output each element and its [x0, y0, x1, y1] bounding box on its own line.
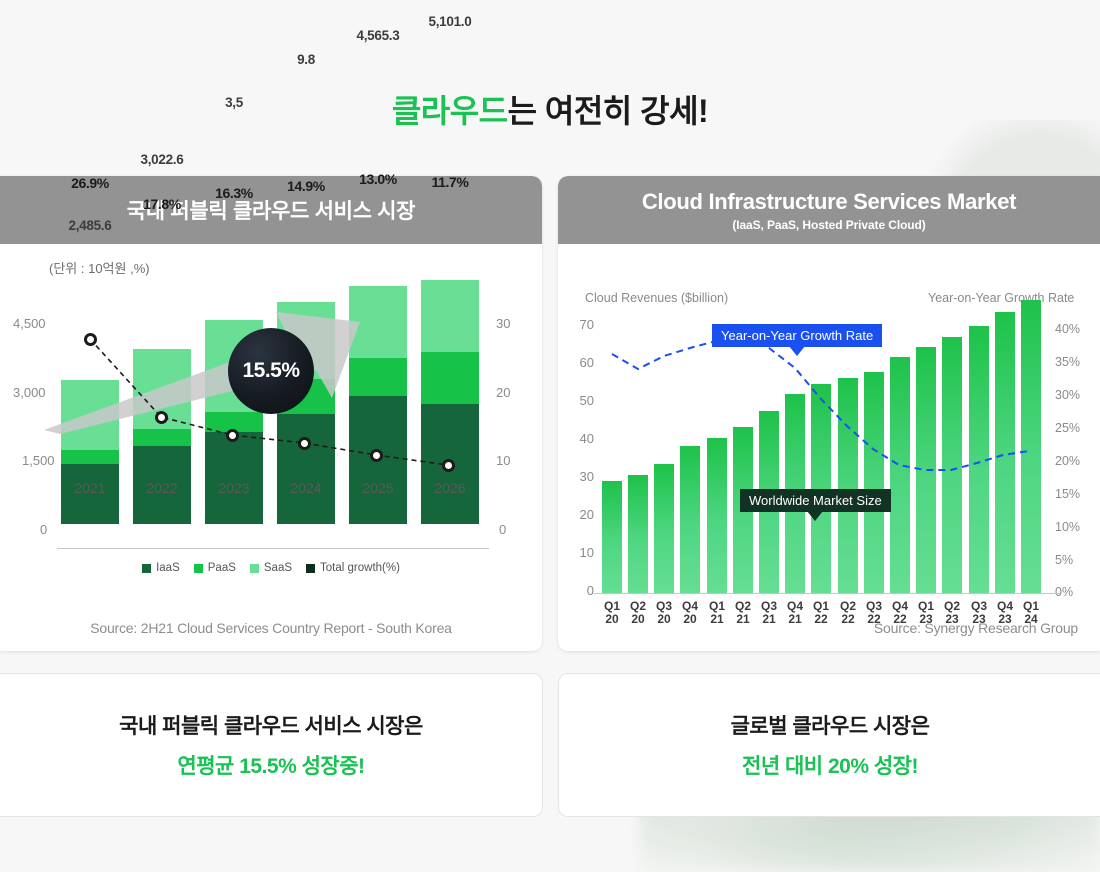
global-market-card-title: Cloud Infrastructure Services Market: [642, 189, 1016, 215]
bar-total-label: 3,5: [174, 95, 294, 110]
global-market-chart: Cloud Revenues ($billion) Year-on-Year G…: [558, 244, 1100, 614]
right-y2tick-5: 5%: [1055, 553, 1095, 567]
korea-market-chart: 4,500 3,000 1,500 0 30 20 10 0 2,485.6 2…: [0, 244, 542, 584]
global-market-card-header: Cloud Infrastructure Services Market (Ia…: [558, 176, 1100, 244]
tooltip-year-on-year-growth-rate: Year-on-Year Growth Rate: [712, 324, 882, 347]
right-y2tick-0: 0%: [1055, 585, 1095, 599]
left-chart-source: Source: 2H21 Cloud Services Country Repo…: [0, 620, 542, 636]
tooltip-growth-label: Year-on-Year Growth Rate: [721, 328, 873, 343]
page-title: 클라우드는 여전히 강세!: [0, 86, 1100, 132]
right-y2tick-20: 20%: [1055, 454, 1095, 468]
summary-card-korea: 국내 퍼블릭 클라우드 서비스 시장은 연평균 15.5% 성장중!: [0, 673, 543, 817]
summary-card-global-line1: 글로벌 클라우드 시장은: [731, 710, 930, 740]
right-growth-line: [602, 244, 1052, 594]
right-y2tick-25: 25%: [1055, 421, 1095, 435]
right-ytick-20: 20: [558, 507, 594, 522]
right-ytick-30: 30: [558, 469, 594, 484]
bar-total-label: 5,101.0: [390, 14, 510, 29]
summary-card-korea-line2: 연평균 15.5% 성장중!: [177, 750, 364, 780]
right-ytick-60: 60: [558, 355, 594, 370]
right-ytick-0: 0: [558, 583, 594, 598]
summary-card-korea-line1: 국내 퍼블릭 클라우드 서비스 시장은: [119, 710, 423, 740]
right-plot-area: [602, 306, 1052, 594]
summary-card-global-line2: 전년 대비 20% 성장!: [742, 750, 918, 780]
bar-total-label: 3,022.6: [102, 152, 222, 167]
right-y2tick-35: 35%: [1055, 355, 1095, 369]
growth-marker-2023: [226, 429, 239, 442]
tooltip-worldwide-market-size: Worldwide Market Size: [740, 489, 891, 512]
right-y2tick-30: 30%: [1055, 388, 1095, 402]
right-y2tick-15: 15%: [1055, 487, 1095, 501]
cagr-badge: 15.5%: [228, 328, 314, 414]
page-title-highlight: 클라우드: [392, 93, 508, 129]
right-ytick-10: 10: [558, 545, 594, 560]
tooltip-market-label: Worldwide Market Size: [749, 493, 882, 508]
bar-total-label: 4,565.3: [318, 28, 438, 43]
tooltip-market-arrow: [807, 511, 823, 521]
summary-card-global: 글로벌 클라우드 시장은 전년 대비 20% 성장!: [558, 673, 1100, 817]
growth-marker-2026: [442, 459, 455, 472]
growth-marker-2024: [298, 437, 311, 450]
global-market-card-subtitle: (IaaS, PaaS, Hosted Private Cloud): [732, 218, 925, 232]
growth-pct-label: 11.7%: [405, 174, 495, 190]
right-ytick-40: 40: [558, 431, 594, 446]
bar-total-label: 2,485.6: [30, 218, 150, 233]
bar-total-label: 9.8: [246, 52, 366, 67]
growth-marker-2022: [155, 411, 168, 424]
right-y2tick-40: 40%: [1055, 322, 1095, 336]
growth-pct-label: 26.9%: [45, 175, 135, 191]
right-ytick-70: 70: [558, 317, 594, 332]
left-growth-line: [0, 244, 542, 584]
tooltip-growth-arrow: [789, 346, 805, 356]
right-ytick-50: 50: [558, 393, 594, 408]
growth-marker-2025: [370, 449, 383, 462]
right-chart-source: Source: Synergy Research Group: [558, 620, 1078, 636]
growth-marker-2021: [84, 333, 97, 346]
right-y2tick-10: 10%: [1055, 520, 1095, 534]
page-title-rest: 는 여전히 강세!: [508, 93, 709, 129]
